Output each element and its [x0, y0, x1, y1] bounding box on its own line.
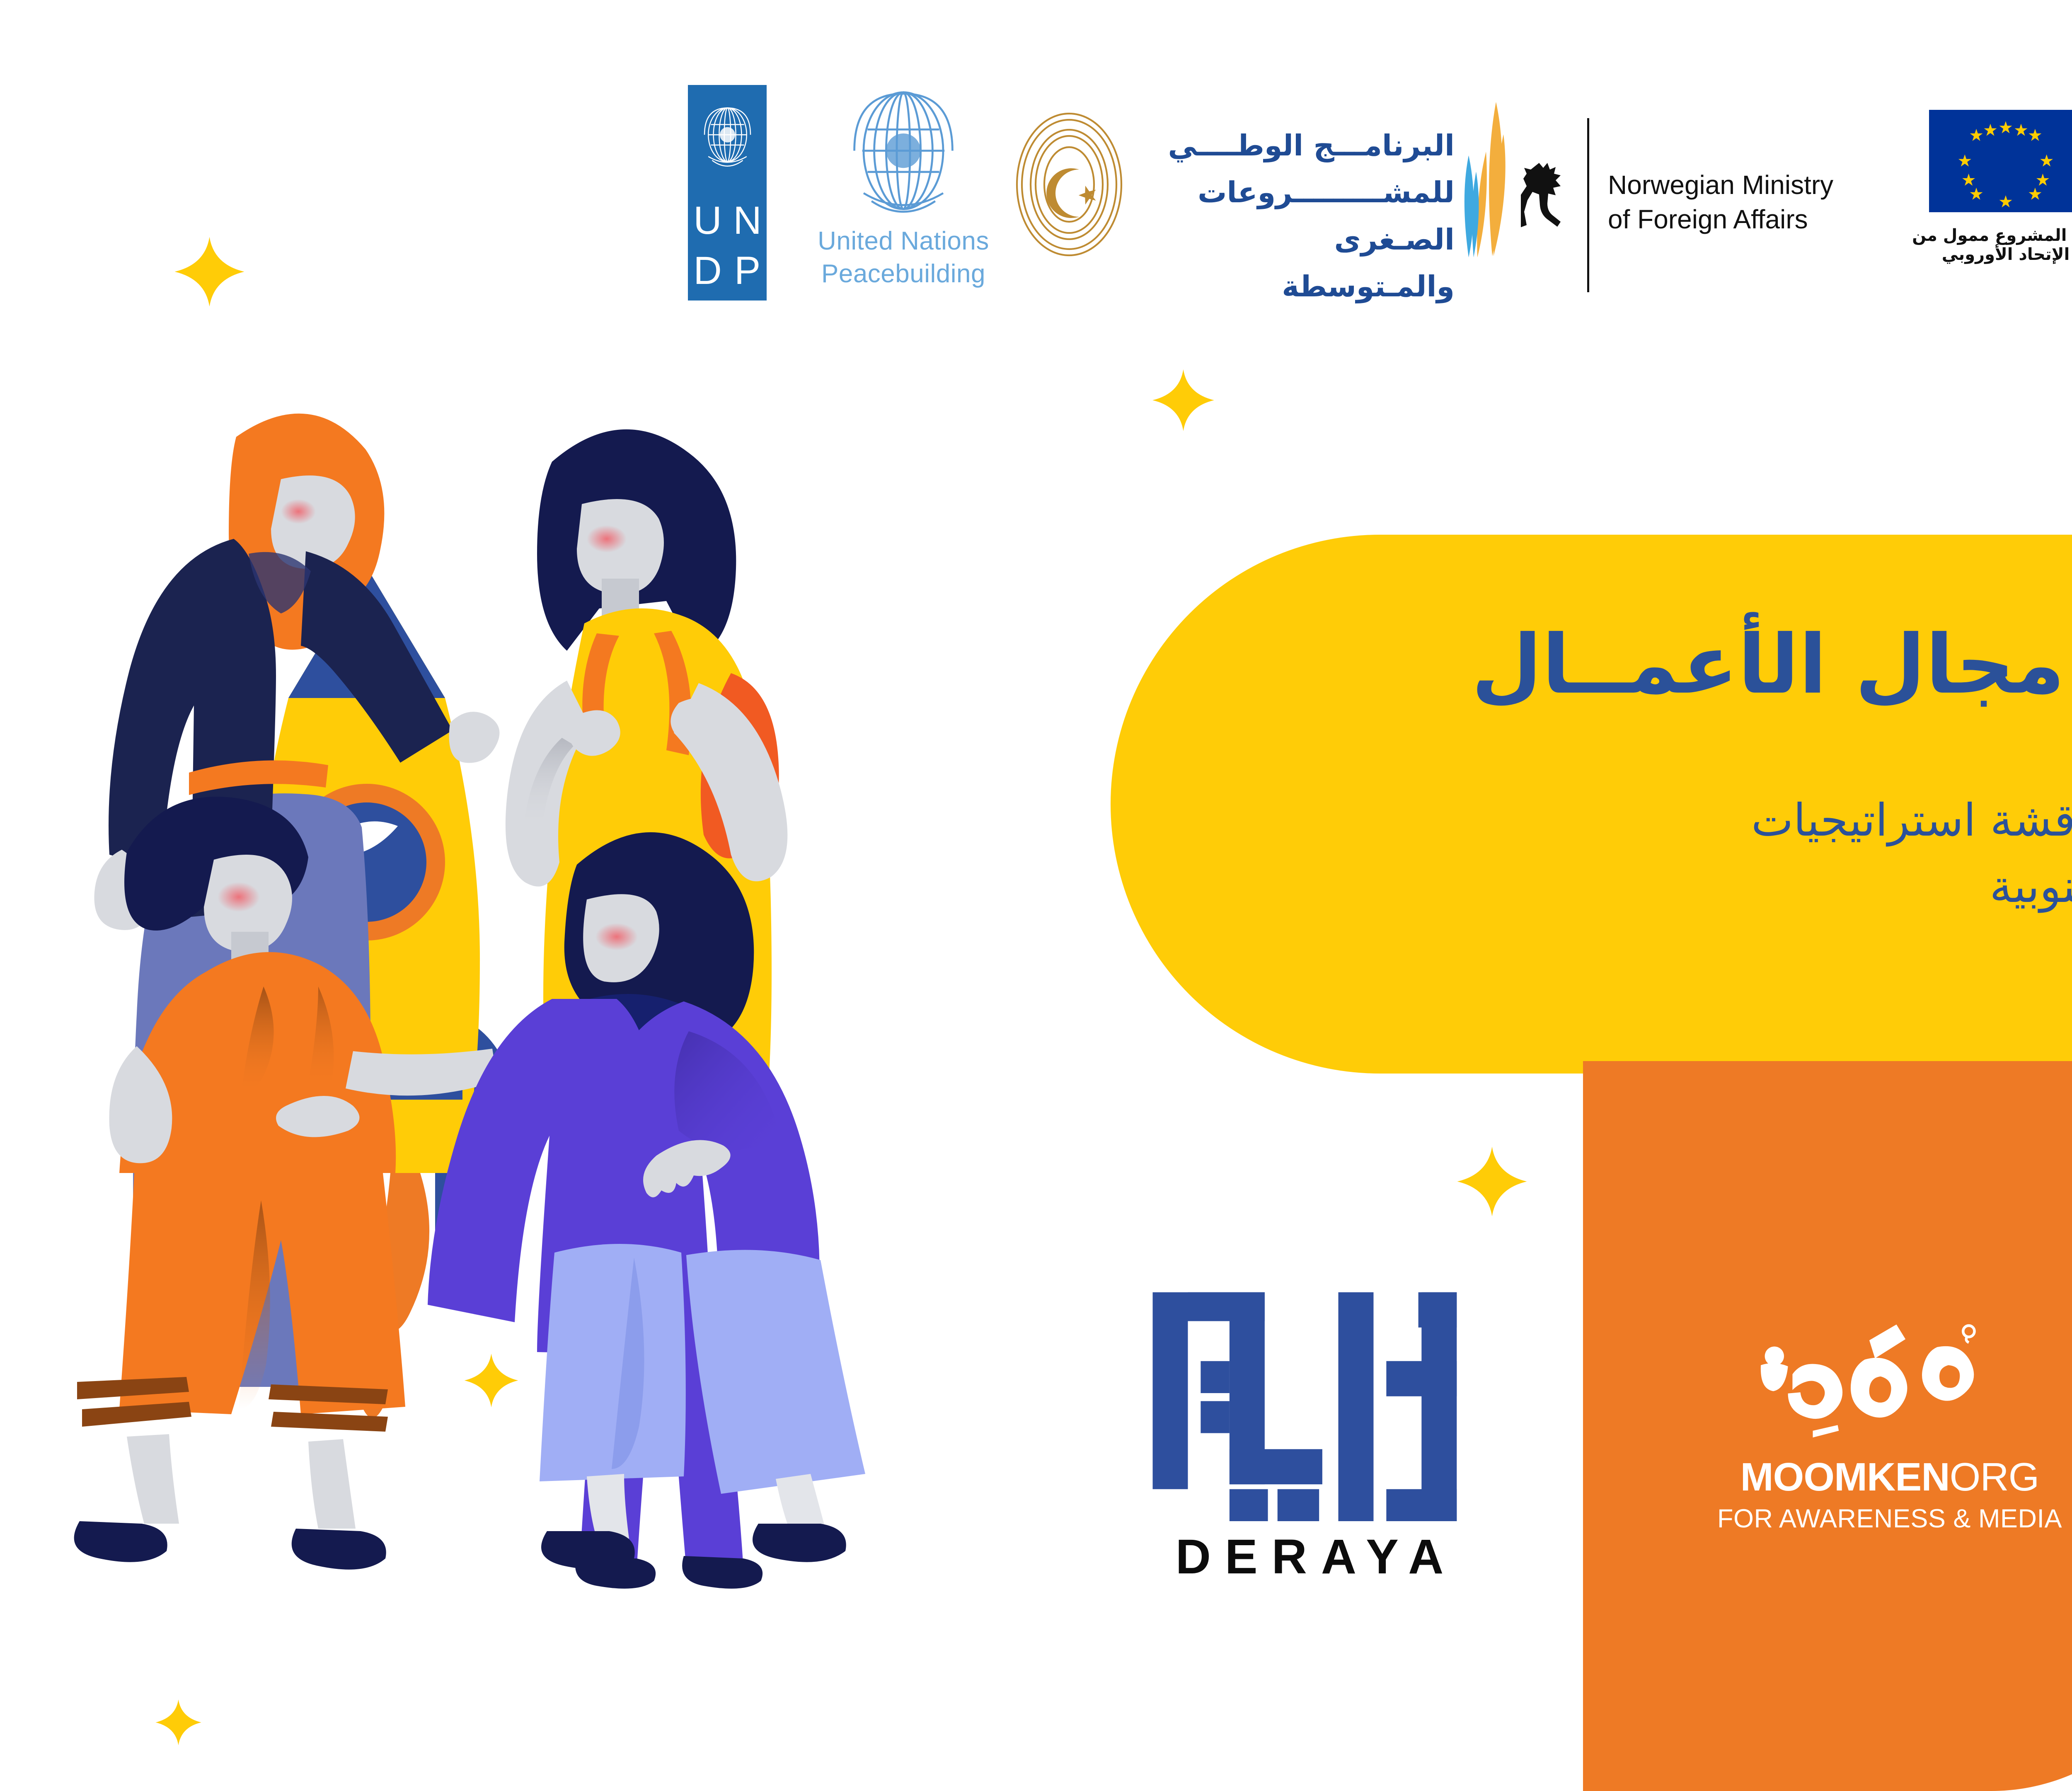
nsme-line1: البرنامـــج الوطــــي [1160, 122, 1455, 169]
un-emblem-icon [835, 87, 972, 220]
un-peacebuilding-line2: Peacebuilding [812, 257, 995, 290]
feather-icon [1459, 99, 1508, 261]
page-title: القيـــادة النسائيــــة في مجال الأعمــا… [1140, 620, 2072, 711]
nsme-line2: للمشـــــــــروعات [1160, 169, 1455, 216]
norwegian-lion-icon [1521, 160, 1571, 255]
national-sme-program-label: البرنامـــج الوطــــي للمشـــــــــروعات… [1160, 122, 1455, 310]
un-peacebuilding-line1: United Nations [812, 225, 995, 257]
sparkle-icon [155, 1699, 202, 1746]
norway-line2: of Foreign Affairs [1608, 202, 1865, 237]
subtitle-line-2: تمكين المرأة وتنمية المهارات القيادية في… [1140, 854, 2072, 920]
moomken-name-light: ORG [1950, 1455, 2039, 1499]
deraya-wordmark: DERAYA [1146, 1529, 1473, 1585]
un-emblem-icon [695, 102, 760, 178]
logo-un-peacebuilding[interactable]: United Nations Peacebuilding [812, 79, 995, 294]
moomken-tagline: FOR AWARENESS & MEDIA [1633, 1504, 2072, 1534]
logo-undp[interactable]: U N D P [646, 79, 812, 294]
subtitle-line-1: دور المرأة كقائدة وصانعة قرار في ريادة ا… [1140, 788, 2072, 854]
logo-national-sme-program[interactable]: البرنامـــج الوطــــي للمشـــــــــروعات… [1144, 79, 1508, 294]
logo-deraya[interactable]: DERAYA [1146, 1289, 1473, 1585]
undp-letter-p: P [729, 247, 766, 294]
sparkle-icon [1456, 1145, 1528, 1218]
sparkle-icon [1151, 368, 1215, 432]
norway-divider [1587, 118, 1589, 292]
norwegian-mfa-label: Norwegian Ministry of Foreign Affairs [1608, 168, 1865, 237]
undp-letter-d: D [689, 247, 726, 294]
state-seal-icon [1007, 110, 1131, 259]
sparkle-icon [173, 235, 246, 308]
moomken-name-bold: MOOMKEN [1740, 1455, 1950, 1499]
undp-letters: U N D P [689, 197, 766, 294]
un-peacebuilding-label: United Nations Peacebuilding [812, 225, 995, 291]
eu-flag-icon [1929, 110, 2072, 212]
logo-european-union[interactable]: هذا المشروع ممول من الإتحاد الأوروبي [1881, 79, 2072, 294]
logo-libya-seal[interactable] [995, 79, 1144, 294]
nsme-line3: الصـغرى والمـتوسطة [1160, 216, 1455, 310]
undp-letter-u: U [689, 197, 726, 244]
undp-letter-n: N [729, 197, 766, 244]
partner-logo-bar: U N D P [646, 79, 2072, 294]
logo-moomken[interactable]: MOOMKENORG FOR AWARENESS & MEDIA [1633, 1322, 2072, 1534]
banner-canvas: U N D P [0, 0, 2072, 1791]
logo-norwegian-mfa[interactable]: Norwegian Ministry of Foreign Affairs [1508, 79, 1881, 294]
norway-line1: Norwegian Ministry [1608, 168, 1865, 202]
deraya-logo-icon [1146, 1289, 1473, 1521]
eu-funding-caption: هذا المشروع ممول من الإتحاد الأوروبي [1898, 226, 2072, 264]
figure-woman-purple-coat [428, 832, 865, 1570]
moomken-wordmark: MOOMKENORG [1633, 1457, 2072, 1497]
sparkle-icon [463, 1352, 519, 1408]
page-subtitle: دور المرأة كقائدة وصانعة قرار في ريادة ا… [1140, 788, 2072, 920]
women-entrepreneurs-rocket-illustration [50, 365, 1193, 1683]
moomken-logo-icon [1633, 1322, 2072, 1447]
